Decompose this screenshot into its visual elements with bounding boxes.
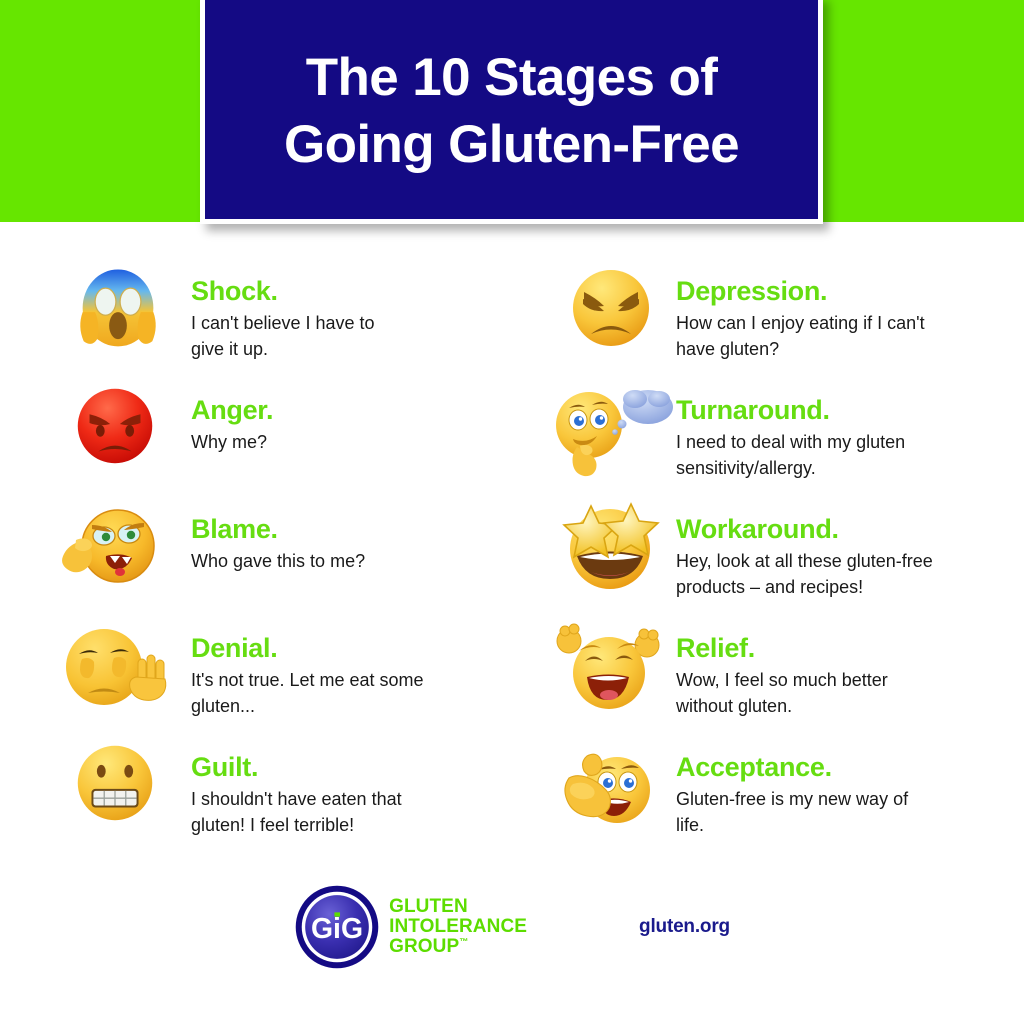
website-url[interactable]: gluten.org (639, 916, 730, 938)
stage-description: Hey, look at all these gluten-free produ… (676, 548, 933, 601)
stage-item: Guilt. I shouldn't have eaten that glute… (66, 734, 539, 853)
sad-tired-face-icon (551, 258, 676, 368)
stage-text: Denial. It's not true. Let me eat some g… (191, 615, 424, 720)
stage-item: Shock. I can't believe I have to give it… (66, 258, 539, 377)
face-screaming-in-fear-icon (66, 258, 191, 368)
stage-description: I shouldn't have eaten that gluten! I fe… (191, 786, 402, 839)
stage-title: Guilt. (191, 754, 402, 781)
stage-text: Guilt. I shouldn't have eaten that glute… (191, 734, 402, 839)
stage-item: Relief. Wow, I feel so much better witho… (551, 615, 1024, 734)
stage-title: Workaround. (676, 516, 933, 543)
stage-title: Shock. (191, 278, 375, 305)
stages-grid: Shock. I can't believe I have to give it… (0, 258, 1024, 853)
gig-logo-wordmark: GLUTEN INTOLERANCE GROUP™ (389, 897, 527, 957)
angry-pointing-face-icon (66, 496, 191, 606)
stage-text: Blame. Who gave this to me? (191, 496, 365, 574)
gig-logo-mark: GiG (294, 884, 380, 970)
footer: GiG GLUTEN INTOLERANCE GROUP™ gluten.org (0, 872, 1024, 982)
trademark-symbol: ™ (459, 937, 468, 947)
stage-item: Depression. How can I enjoy eating if I … (551, 258, 1024, 377)
stage-description: How can I enjoy eating if I can't have g… (676, 310, 925, 363)
thinking-face-with-thought-bubble-icon (551, 377, 676, 487)
stage-text: Relief. Wow, I feel so much better witho… (676, 615, 888, 720)
stage-title: Denial. (191, 635, 424, 662)
stage-description: Gluten-free is my new way of life. (676, 786, 908, 839)
svg-text:GiG: GiG (311, 913, 363, 945)
gig-logo[interactable]: GiG GLUTEN INTOLERANCE GROUP™ (294, 884, 527, 970)
stage-text: Shock. I can't believe I have to give it… (191, 258, 375, 363)
stage-description: Wow, I feel so much better without glute… (676, 667, 888, 720)
celebrating-happy-face-icon (551, 615, 676, 725)
stage-description: I need to deal with my gluten sensitivit… (676, 429, 905, 482)
stage-item: Acceptance. Gluten-free is my new way of… (551, 734, 1024, 853)
star-struck-face-icon (551, 496, 676, 606)
stage-text: Depression. How can I enjoy eating if I … (676, 258, 925, 363)
stage-title: Depression. (676, 278, 925, 305)
face-with-raised-hand-icon (66, 615, 191, 725)
stage-text: Anger. Why me? (191, 377, 273, 455)
stage-title: Acceptance. (676, 754, 908, 781)
thumbs-up-smiley-icon (551, 734, 676, 844)
stage-text: Acceptance. Gluten-free is my new way of… (676, 734, 908, 839)
stage-title: Turnaround. (676, 397, 905, 424)
org-name: GLUTEN INTOLERANCE GROUP (389, 896, 527, 957)
grimacing-face-icon (66, 734, 191, 844)
stages-column-right: Depression. How can I enjoy eating if I … (539, 258, 1024, 853)
stage-description: Who gave this to me? (191, 548, 365, 574)
title-banner: The 10 Stages of Going Gluten-Free (200, 0, 823, 224)
pouting-red-face-icon (66, 377, 191, 487)
stage-item: Anger. Why me? (66, 377, 539, 496)
stage-description: Why me? (191, 429, 273, 455)
stage-item: Denial. It's not true. Let me eat some g… (66, 615, 539, 734)
stage-title: Anger. (191, 397, 273, 424)
stage-item: Workaround. Hey, look at all these glute… (551, 496, 1024, 615)
stage-description: It's not true. Let me eat some gluten... (191, 667, 424, 720)
stage-description: I can't believe I have to give it up. (191, 310, 375, 363)
stage-title: Blame. (191, 516, 365, 543)
stage-text: Turnaround. I need to deal with my glute… (676, 377, 905, 482)
stage-title: Relief. (676, 635, 888, 662)
stage-item: Turnaround. I need to deal with my glute… (551, 377, 1024, 496)
stage-item: Blame. Who gave this to me? (66, 496, 539, 615)
stages-column-left: Shock. I can't believe I have to give it… (0, 258, 539, 853)
stage-text: Workaround. Hey, look at all these glute… (676, 496, 933, 601)
page-title: The 10 Stages of Going Gluten-Free (284, 39, 739, 179)
